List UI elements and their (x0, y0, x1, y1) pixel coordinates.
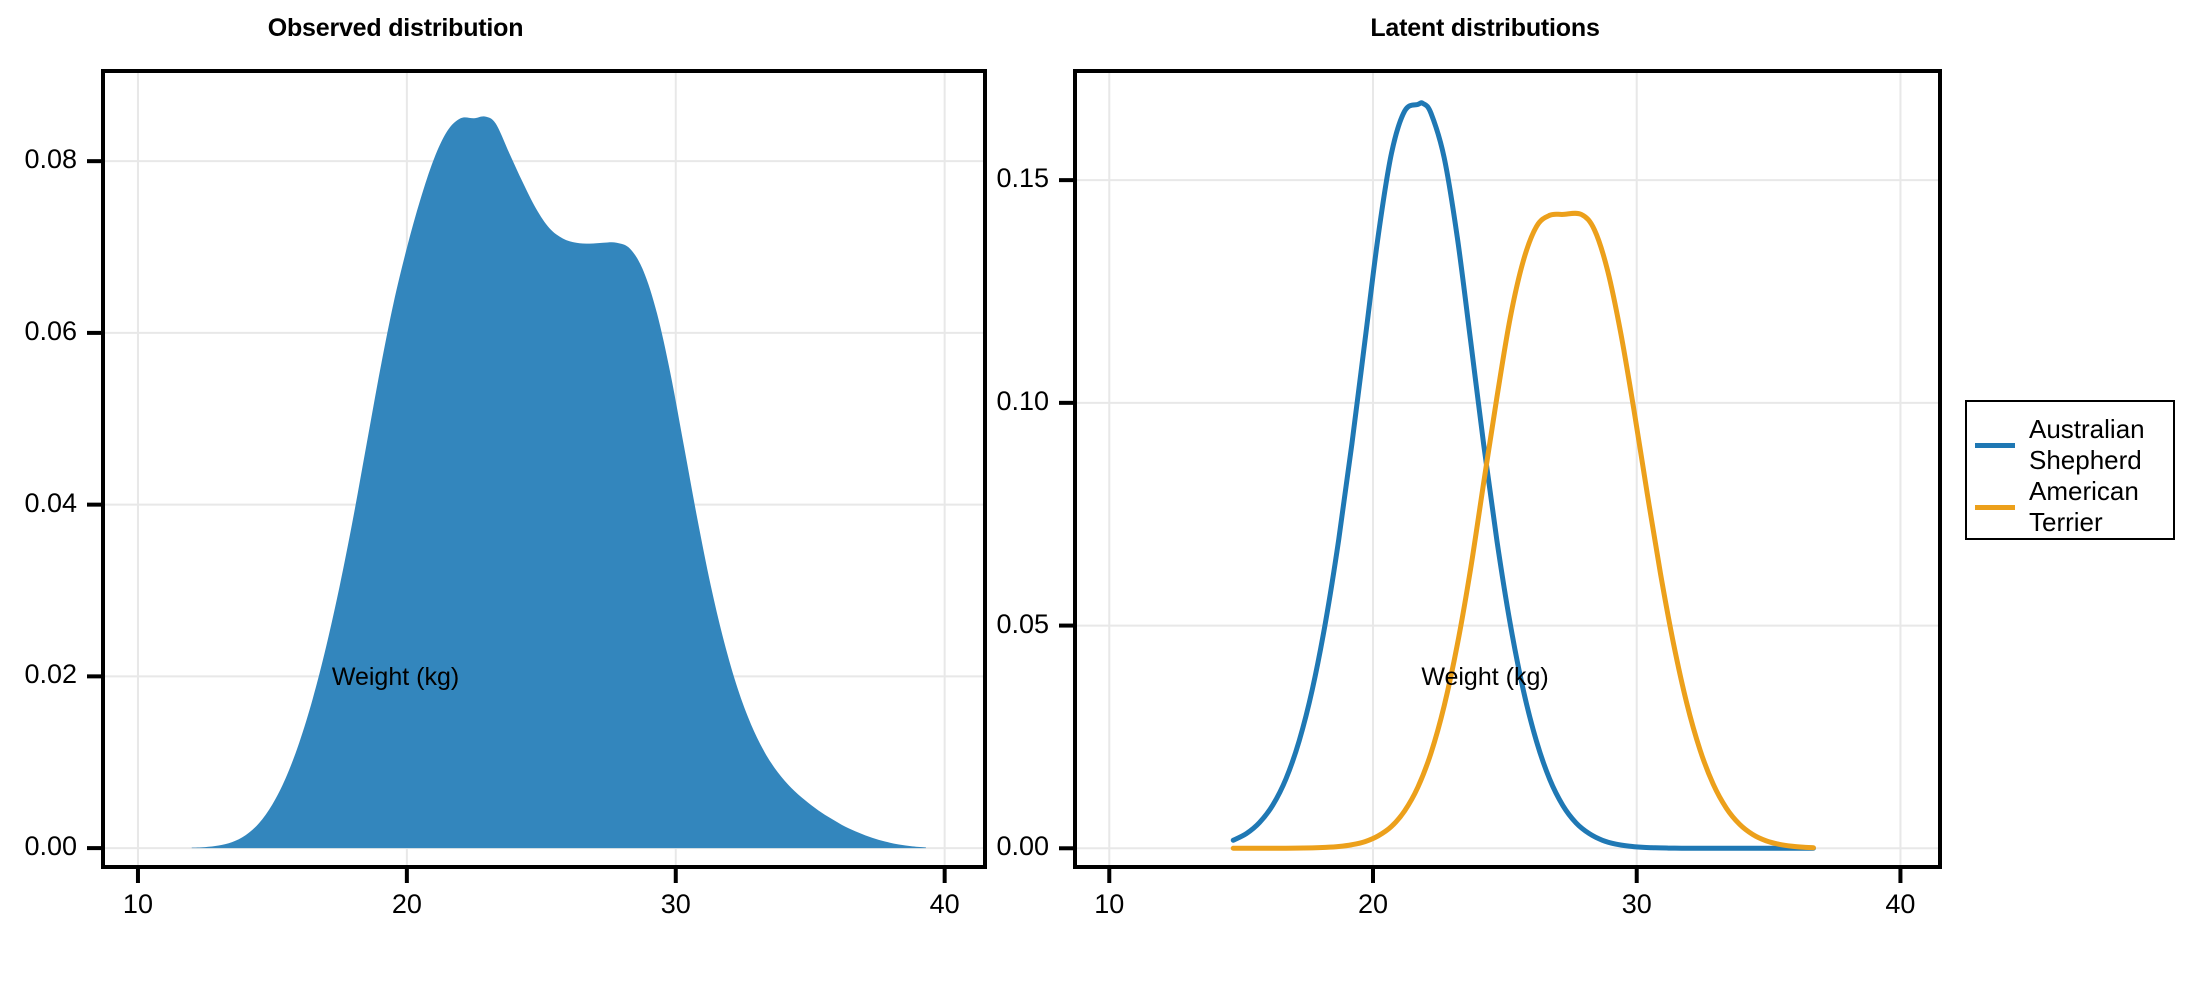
panel-latent-distributions: Latent distributions Weight (kg) 1020304… (980, 0, 1960, 1000)
legend-entry-australian-shepherd[interactable]: Australian Shepherd (1975, 414, 2145, 476)
y-tick-label: 0.15 (929, 163, 1049, 194)
y-tick-label: 0.00 (929, 831, 1049, 862)
y-tick-label: 0.04 (0, 488, 77, 519)
x-tick-label: 30 (1597, 889, 1677, 920)
series-line-0 (1233, 103, 1813, 848)
y-tick-label: 0.00 (0, 831, 77, 862)
legend-line-swatch-icon (1975, 505, 2015, 510)
y-tick-label: 0.06 (0, 316, 77, 347)
series-area-0 (192, 116, 926, 848)
y-tick-label: 0.08 (0, 144, 77, 175)
legend-line-swatch-icon (1975, 443, 2015, 448)
legend-label: Australian Shepherd (2029, 414, 2145, 476)
series-line-1 (1233, 213, 1813, 848)
plot-area-latent (980, 0, 1960, 1000)
y-tick-label: 0.10 (929, 386, 1049, 417)
legend-label: American Terrier (2029, 476, 2139, 538)
figure-canvas: Observed distribution Weight (kg) 102030… (0, 0, 2200, 1000)
grid-lines (1075, 71, 1940, 867)
y-tick-label: 0.05 (929, 609, 1049, 640)
x-axis-label-latent: Weight (kg) (1075, 663, 1895, 692)
legend-region: Australian Shepherd American Terrier (1960, 0, 2200, 1000)
legend-entry-american-terrier[interactable]: American Terrier (1975, 476, 2139, 538)
x-tick-label: 10 (98, 889, 178, 920)
plot-area-observed (0, 0, 1000, 1000)
x-tick-label: 20 (1333, 889, 1413, 920)
panel-title-observed: Observed distribution (103, 14, 688, 43)
panel-title-latent: Latent distributions (1075, 14, 1895, 43)
y-tick-label: 0.02 (0, 659, 77, 690)
axes-frame (1075, 71, 1940, 867)
panel-observed-distribution: Observed distribution Weight (kg) 102030… (0, 0, 1000, 1000)
legend-box: Australian Shepherd American Terrier (1965, 400, 2175, 540)
x-tick-label: 10 (1069, 889, 1149, 920)
x-tick-label: 40 (905, 889, 985, 920)
x-tick-label: 40 (1860, 889, 1940, 920)
x-tick-label: 20 (367, 889, 447, 920)
x-tick-label: 30 (636, 889, 716, 920)
x-axis-label-observed: Weight (kg) (103, 663, 688, 692)
